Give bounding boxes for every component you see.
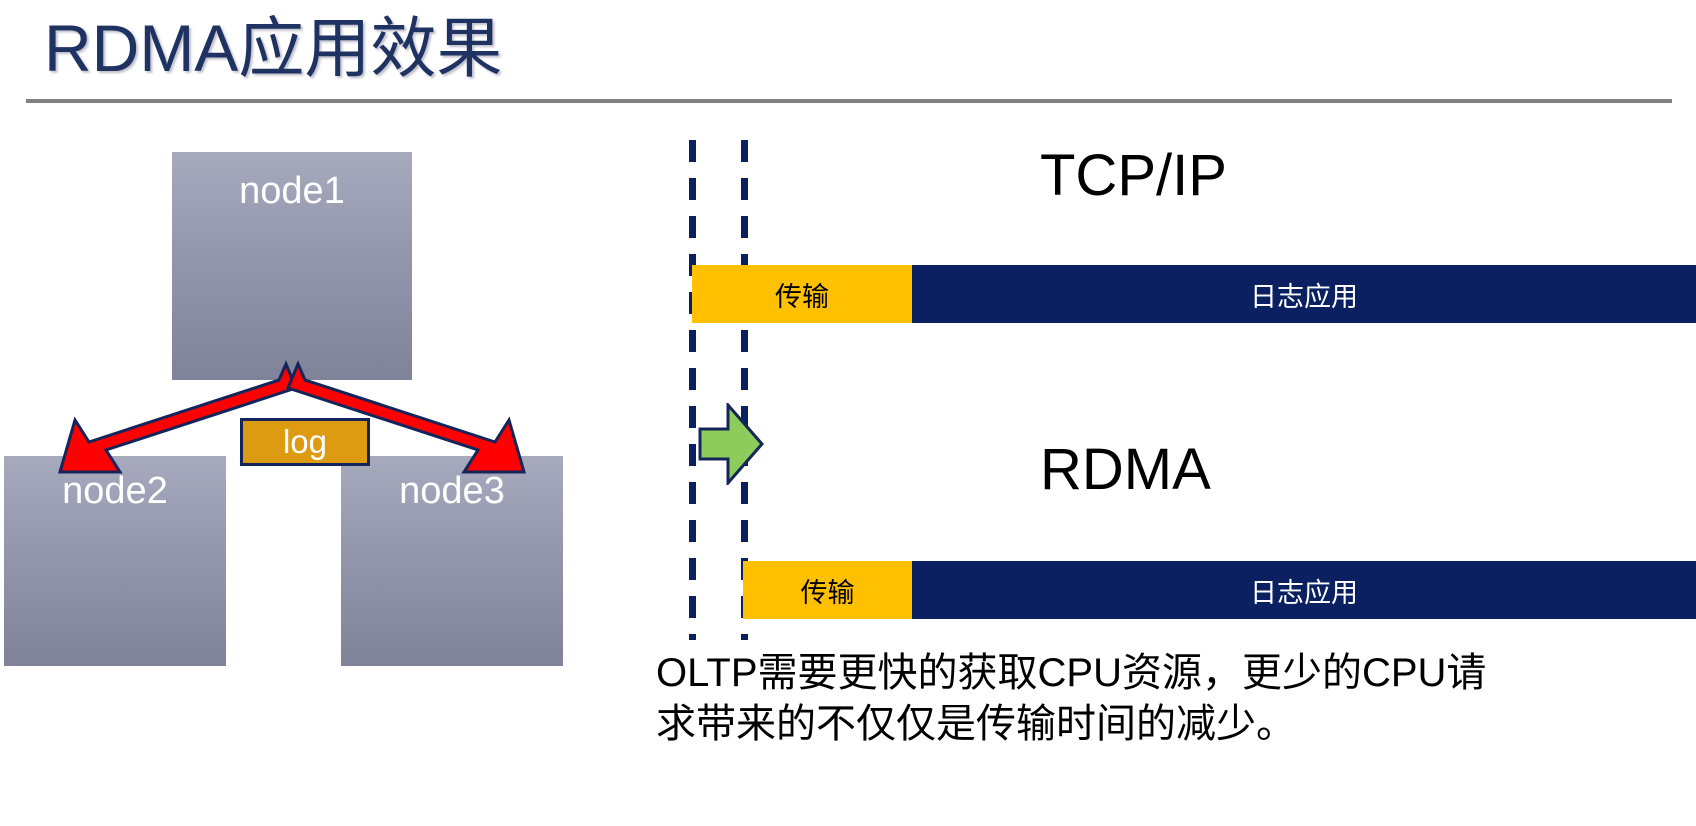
caption-line-2: 求带来的不仅仅是传输时间的减少。 <box>656 699 1656 750</box>
timing-bar-tcpip: 传输 日志应用 <box>692 265 1696 323</box>
guide-line-start <box>689 140 696 640</box>
node-diagram: node1 node2 node3 log <box>0 120 620 650</box>
timing-diagram: TCP/IP 传输 日志应用 RDMA 传输 日志应用 <box>620 120 1696 680</box>
segment-log-apply-tcpip: 日志应用 <box>912 265 1696 323</box>
segment-log-apply-rdma: 日志应用 <box>912 561 1696 619</box>
caption: OLTP需要更快的获取CPU资源，更少的CPU请 求带来的不仅仅是传输时间的减少… <box>656 648 1656 750</box>
replication-arrows <box>0 120 620 650</box>
protocol-label-tcpip: TCP/IP <box>1040 144 1227 208</box>
log-box-label: log <box>283 423 327 460</box>
timing-bar-rdma: 传输 日志应用 <box>743 561 1696 619</box>
segment-transfer-tcpip: 传输 <box>692 265 912 323</box>
log-box: log <box>240 418 370 466</box>
title-divider <box>26 99 1672 103</box>
protocol-label-rdma: RDMA <box>1040 438 1211 502</box>
page-title: RDMA应用效果 <box>44 4 502 92</box>
segment-transfer-rdma: 传输 <box>743 561 912 619</box>
speedup-arrow-icon <box>698 403 764 485</box>
caption-line-1: OLTP需要更快的获取CPU资源，更少的CPU请 <box>656 648 1656 699</box>
